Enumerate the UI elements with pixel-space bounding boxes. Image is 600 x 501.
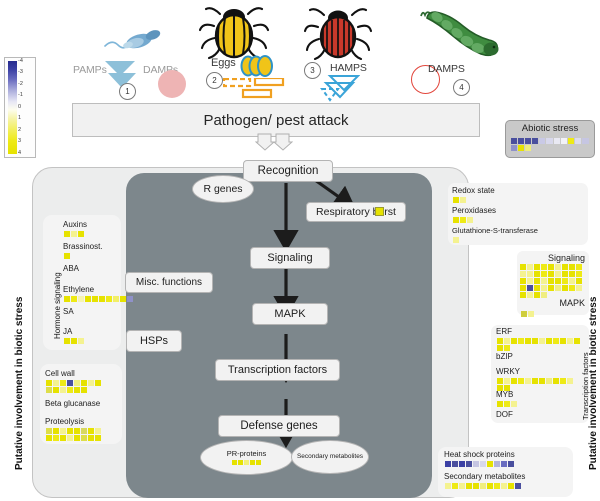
heatmap-cell xyxy=(53,428,59,434)
heatmap-cell xyxy=(508,483,514,489)
hormone-item-aba: ABA xyxy=(63,264,119,274)
heatmap-cell xyxy=(64,338,70,344)
node-hsps-label: HSPs xyxy=(140,335,168,347)
heat-shock-heatmap xyxy=(444,460,515,467)
heat-shock-card: Heat shock proteins Secondary metabolite… xyxy=(438,447,573,497)
heatmap-cell xyxy=(575,138,581,144)
heatmap-cell xyxy=(480,461,486,467)
heatmap-cell xyxy=(539,138,545,144)
item-label: DOF xyxy=(496,410,513,420)
heatmap-cell xyxy=(569,271,575,277)
legend-tick: -3 xyxy=(18,70,35,76)
myb-heatmap xyxy=(496,400,517,407)
banner-label: Pathogen/ pest attack xyxy=(203,112,348,129)
heatmap-cell xyxy=(81,380,87,386)
heatmap-cell xyxy=(527,271,533,277)
heatmap-cell xyxy=(511,338,517,344)
heatmap-cell xyxy=(546,378,552,384)
heatmap-cell xyxy=(452,483,458,489)
heatmap-cell xyxy=(525,338,531,344)
item-beta-glucanase: Beta glucanase xyxy=(45,399,121,409)
heatmap-cell xyxy=(569,264,575,270)
heatmap-cell xyxy=(53,380,59,386)
colour-gradient-bar xyxy=(8,61,17,154)
heatmap-cell xyxy=(541,285,547,291)
heatmap-cell xyxy=(518,145,524,151)
heatmap-cell xyxy=(60,387,66,393)
tf-item-wrky: WRKY xyxy=(496,367,578,391)
heatmap-cell xyxy=(518,338,524,344)
heatmap-cell xyxy=(487,461,493,467)
heatmap-cell xyxy=(85,296,91,302)
heatmap-cell xyxy=(64,296,70,302)
node-misc-functions[interactable]: Misc. functions xyxy=(125,272,213,293)
heatmap-cell xyxy=(250,460,255,465)
heatmap-cell xyxy=(576,278,582,284)
heatmap-cell xyxy=(504,401,510,407)
heatmap-cell xyxy=(527,278,533,284)
heatmap-cell xyxy=(576,285,582,291)
heatmap-cell xyxy=(553,378,559,384)
node-pr-proteins-label: PR-proteins xyxy=(227,449,267,458)
heatmap-cell xyxy=(561,138,567,144)
right-mapk-heatmap xyxy=(520,310,534,317)
heatmap-cell xyxy=(567,378,573,384)
heatmap-cell xyxy=(64,231,70,237)
heatmap-cell xyxy=(466,461,472,467)
heatmap-cell xyxy=(508,461,514,467)
heatmap-cell xyxy=(574,338,580,344)
hormone-item-brassinost: Brassinost. xyxy=(63,242,119,259)
heatmap-cell xyxy=(497,338,503,344)
bacteria-icon xyxy=(103,28,165,54)
heatmap-cell xyxy=(539,338,545,344)
heatmap-cell xyxy=(46,387,52,393)
item-label: Beta glucanase xyxy=(45,399,121,409)
item-label: WRKY xyxy=(496,367,578,377)
legend-tick: 0 xyxy=(18,105,35,111)
heatmap-cell xyxy=(527,285,533,291)
legend-tick: 1 xyxy=(18,116,35,122)
node-defense-genes-label: Defense genes xyxy=(240,420,317,432)
heatmap-cell xyxy=(518,138,524,144)
heatmap-cell xyxy=(60,380,66,386)
heatmap-cell xyxy=(560,378,566,384)
heatmap-cell xyxy=(539,378,545,384)
right-mapk-label: MAPK xyxy=(517,298,589,308)
heatmap-cell xyxy=(67,428,73,434)
red-beetle-icon xyxy=(303,4,373,60)
heatmap-cell xyxy=(527,264,533,270)
gst-heatmap xyxy=(452,236,538,243)
heatmap-cell xyxy=(541,271,547,277)
heatmap-cell xyxy=(569,278,575,284)
hormone-signaling-group-label: Hormone signaling xyxy=(53,272,62,339)
heatmap-cell xyxy=(88,435,94,441)
heatmap-cell xyxy=(95,380,101,386)
heatmap-cell xyxy=(548,285,554,291)
tf-item-bzip: bZIP xyxy=(496,352,513,362)
heatmap-cell xyxy=(518,378,524,384)
heatmap-cell xyxy=(64,253,70,259)
heatmap-cell xyxy=(467,217,473,223)
hormone-item-auxins: Auxins xyxy=(63,220,119,237)
item-label: Heat shock proteins xyxy=(444,450,515,460)
heatmap-cell xyxy=(541,278,547,284)
heatmap-cell xyxy=(74,428,80,434)
heatmap-cell xyxy=(459,483,465,489)
node-mapk[interactable]: MAPK xyxy=(252,303,328,325)
hormone-item-heatmap xyxy=(63,230,119,237)
hormone-item-heatmap xyxy=(63,252,119,259)
legend-tick: -1 xyxy=(18,93,35,99)
item-label: Redox state xyxy=(452,186,495,196)
hormone-item-sa: SA xyxy=(63,307,119,317)
heatmap-cell xyxy=(567,338,573,344)
heatmap-cell xyxy=(497,345,503,351)
heatmap-cell xyxy=(568,138,574,144)
heatmap-cell xyxy=(67,380,73,386)
heatmap-cell xyxy=(562,271,568,277)
heatmap-cell xyxy=(504,338,510,344)
tf-item-myb: MYB xyxy=(496,390,517,407)
item-heat-shock-proteins: Heat shock proteins xyxy=(444,450,515,467)
damps-pink-circle-icon xyxy=(158,70,186,98)
cell-wall-heatmap xyxy=(45,379,105,393)
item-redox-state: Redox state xyxy=(452,186,495,203)
heatmap-cell xyxy=(497,401,503,407)
hormone-item-label: ABA xyxy=(63,264,119,274)
heatmap-cell xyxy=(95,435,101,441)
heatmap-cell xyxy=(532,338,538,344)
heatmap-cell xyxy=(453,197,459,203)
node-signaling-label: Signaling xyxy=(267,252,312,264)
heatmap-cell xyxy=(511,145,517,151)
heatmap-cell xyxy=(60,435,66,441)
wrky-heatmap xyxy=(496,377,578,391)
heatmap-cell xyxy=(521,311,527,317)
heatmap-cell xyxy=(81,428,87,434)
secondary-metabolites-heatmap xyxy=(444,482,525,489)
node-pr-proteins[interactable]: PR-proteins xyxy=(200,440,293,475)
erf-heatmap xyxy=(496,337,582,351)
heatmap-cell xyxy=(453,217,459,223)
heatmap-cell xyxy=(554,138,560,144)
heatmap-cell xyxy=(528,311,534,317)
item-label: Glutathione-S-transferase xyxy=(452,226,538,236)
heatmap-cell xyxy=(555,278,561,284)
legend-tick: 3 xyxy=(18,139,35,145)
heatmap-cell xyxy=(244,460,249,465)
node-secondary-metabolites-label: Secondary metabolites xyxy=(297,453,363,461)
heatmap-cell xyxy=(81,435,87,441)
heatmap-cell xyxy=(71,296,77,302)
heatmap-cell xyxy=(445,461,451,467)
heatmap-cell xyxy=(460,217,466,223)
heatmap-cell xyxy=(480,483,486,489)
heatmap-cell xyxy=(501,461,507,467)
heatmap-cell xyxy=(546,138,552,144)
heatmap-cell xyxy=(494,461,500,467)
item-label: Cell wall xyxy=(45,369,121,379)
damps-label-2: DAMPS xyxy=(428,63,465,75)
item-label: bZIP xyxy=(496,352,513,362)
heatmap-cell xyxy=(511,401,517,407)
heatmap-cell xyxy=(525,378,531,384)
item-label: Secondary metabolites xyxy=(444,472,525,482)
tf-item-dof: DOF xyxy=(496,410,513,420)
heatmap-cell xyxy=(582,138,588,144)
heatmap-cell xyxy=(88,428,94,434)
heatmap-cell xyxy=(562,285,568,291)
elicitor-number-4: 4 xyxy=(453,79,470,96)
heatmap-cell xyxy=(113,296,119,302)
heatmap-cell xyxy=(548,264,554,270)
side-label-left: Putative involvement in biotic stress xyxy=(14,297,25,470)
abiotic-stress-box: Abiotic stress xyxy=(505,120,595,158)
tf-group-label: Transcription factors xyxy=(581,352,590,420)
heatmap-cell xyxy=(238,460,243,465)
heatmap-cell xyxy=(452,461,458,467)
eggs-label: Eggs xyxy=(211,57,236,69)
hormone-item-label: Brassinost. xyxy=(63,242,119,252)
elicitor-number-3: 3 xyxy=(304,62,321,79)
pathogen-pest-attack-banner: Pathogen/ pest attack xyxy=(72,103,480,137)
item-label: Peroxidases xyxy=(452,206,496,216)
heatmap-cell xyxy=(445,483,451,489)
heatmap-cell xyxy=(53,435,59,441)
heatmap-cell xyxy=(95,428,101,434)
right-signaling-label: Signaling xyxy=(517,251,589,263)
hormone-item-label: SA xyxy=(63,307,119,317)
heatmap-cell xyxy=(548,278,554,284)
legend-tick: -4 xyxy=(18,59,35,65)
banner-down-arrow-icon xyxy=(255,133,293,151)
node-respiratory-burst[interactable]: Respiratory burst xyxy=(306,202,406,222)
heatmap-cell xyxy=(504,345,510,351)
heatmap-cell xyxy=(562,278,568,284)
hormone-item-heatmap xyxy=(63,337,119,344)
heatmap-cell xyxy=(555,285,561,291)
heatmap-cell xyxy=(92,296,98,302)
tf-item-erf: ERF xyxy=(496,327,582,351)
hamps-arrow-marker-icon xyxy=(320,74,360,102)
egg-dashed-marker-icon xyxy=(223,78,285,100)
heatmap-cell xyxy=(555,264,561,270)
heatmap-cell xyxy=(459,461,465,467)
item-secondary-metabolites: Secondary metabolites xyxy=(444,472,525,489)
heatmap-cell xyxy=(460,197,466,203)
hormone-signaling-card: Hormone signaling Auxins Brassinost. ABA… xyxy=(43,215,121,350)
heatmap-cell xyxy=(46,428,52,434)
heatmap-cell xyxy=(541,264,547,270)
redox-heatmap xyxy=(452,196,495,203)
right-signaling-card: Signaling MAPK xyxy=(517,251,589,315)
item-label: Proteolysis xyxy=(45,417,121,427)
heatmap-cell xyxy=(497,378,503,384)
heatmap-cell xyxy=(120,296,126,302)
heatmap-cell xyxy=(532,138,538,144)
item-proteolysis: Proteolysis xyxy=(45,417,121,441)
item-peroxidases: Peroxidases xyxy=(452,206,496,223)
item-cell-wall: Cell wall xyxy=(45,369,121,393)
heatmap-cell xyxy=(511,378,517,384)
node-recognition[interactable]: Recognition xyxy=(243,160,333,182)
heatmap-cell xyxy=(487,483,493,489)
peroxidases-heatmap xyxy=(452,216,496,223)
legend-tick: 2 xyxy=(18,128,35,134)
heatmap-cell xyxy=(520,292,526,298)
heatmap-cell xyxy=(504,378,510,384)
abiotic-stress-title: Abiotic stress xyxy=(510,123,590,135)
heatmap-cell xyxy=(88,380,94,386)
hormone-item-label: Auxins xyxy=(63,220,119,230)
heatmap-cell xyxy=(78,296,84,302)
heatmap-cell xyxy=(494,483,500,489)
heatmap-cell xyxy=(256,460,261,465)
node-recognition-label: Recognition xyxy=(258,165,319,177)
hormone-item-ethylene: Ethylene xyxy=(63,285,133,302)
heatmap-cell xyxy=(453,237,459,243)
heatmap-cell xyxy=(532,378,538,384)
heatmap-cell xyxy=(520,271,526,277)
node-r-genes-label: R genes xyxy=(203,183,242,195)
colour-scale-ticks: -4 -3 -2 -1 0 1 2 3 4 xyxy=(17,58,35,157)
heatmap-cell xyxy=(562,264,568,270)
heatmap-cell xyxy=(520,264,526,270)
heatmap-cell xyxy=(576,271,582,277)
hormone-item-label: Ethylene xyxy=(63,285,133,295)
pr-proteins-heatmap xyxy=(231,459,262,465)
hormone-item-label: JA xyxy=(63,327,119,337)
heatmap-cell xyxy=(576,264,582,270)
heatmap-cell xyxy=(534,292,540,298)
transcription-factors-card: Transcription factors ERF bZIP WRKY MYB … xyxy=(491,325,589,423)
heatmap-cell xyxy=(534,278,540,284)
heatmap-cell xyxy=(511,138,517,144)
heatmap-cell xyxy=(520,278,526,284)
abiotic-stress-heatmap xyxy=(510,137,590,151)
heatmap-cell xyxy=(78,231,84,237)
heatmap-cell xyxy=(74,380,80,386)
heatmap-cell xyxy=(569,285,575,291)
heatmap-cell xyxy=(78,338,84,344)
node-transcription-factors[interactable]: Transcription factors xyxy=(215,359,340,381)
heatmap-cell xyxy=(527,292,533,298)
item-label: MYB xyxy=(496,390,517,400)
heatmap-cell xyxy=(546,338,552,344)
heatmap-cell xyxy=(553,338,559,344)
respiratory-burst-marker xyxy=(375,207,384,216)
heatmap-cell xyxy=(473,461,479,467)
heatmap-cell xyxy=(60,428,66,434)
node-misc-functions-label: Misc. functions xyxy=(136,277,202,288)
node-defense-genes[interactable]: Defense genes xyxy=(218,415,340,437)
caterpillar-icon xyxy=(419,6,503,66)
expression-colour-scale-legend: -4 -3 -2 -1 0 1 2 3 4 xyxy=(4,57,36,158)
node-secondary-metabolites[interactable]: Secondary metabolites xyxy=(291,440,369,474)
item-label: ERF xyxy=(496,327,582,337)
heatmap-cell xyxy=(46,435,52,441)
node-signaling[interactable]: Signaling xyxy=(250,247,330,269)
figure-canvas: -4 -3 -2 -1 0 1 2 3 4 xyxy=(0,0,600,501)
heatmap-cell xyxy=(67,387,73,393)
heatmap-cell xyxy=(74,435,80,441)
cell-wall-proteolysis-card: Cell wall Beta glucanase Proteolysis xyxy=(40,364,122,444)
heatmap-cell xyxy=(515,483,521,489)
heatmap-cell xyxy=(67,435,73,441)
heatmap-cell xyxy=(541,292,547,298)
heatmap-cell xyxy=(74,387,80,393)
heatmap-cell xyxy=(534,271,540,277)
hormone-item-heatmap xyxy=(63,295,133,302)
heatmap-cell xyxy=(466,483,472,489)
heatmap-cell xyxy=(99,296,105,302)
node-r-genes[interactable]: R genes xyxy=(192,175,254,203)
node-hsps[interactable]: HSPs xyxy=(126,330,182,352)
redox-card: Redox state Peroxidases Glutathione-S-tr… xyxy=(448,183,588,245)
heatmap-cell xyxy=(232,460,237,465)
heatmap-cell xyxy=(520,285,526,291)
heatmap-cell xyxy=(53,387,59,393)
heatmap-cell xyxy=(534,264,540,270)
legend-tick: -2 xyxy=(18,82,35,88)
heatmap-cell xyxy=(81,387,87,393)
hamps-label: HAMPS xyxy=(330,62,367,74)
heatmap-cell xyxy=(560,338,566,344)
heatmap-cell xyxy=(525,145,531,151)
heatmap-cell xyxy=(71,338,77,344)
right-signaling-grid xyxy=(517,263,585,298)
node-transcription-factors-label: Transcription factors xyxy=(228,364,327,376)
heatmap-cell xyxy=(525,138,531,144)
heatmap-cell xyxy=(106,296,112,302)
proteolysis-heatmap xyxy=(45,427,107,441)
node-mapk-label: MAPK xyxy=(274,308,305,320)
elicitor-number-2: 2 xyxy=(206,72,223,89)
egg-icon xyxy=(240,55,274,77)
heatmap-cell xyxy=(473,483,479,489)
hormone-item-ja: JA xyxy=(63,327,119,344)
heatmap-cell xyxy=(501,483,507,489)
heatmap-cell xyxy=(71,231,77,237)
heatmap-cell xyxy=(555,271,561,277)
item-glutathione-s-transferase: Glutathione-S-transferase xyxy=(452,226,538,243)
heatmap-cell xyxy=(534,285,540,291)
heatmap-cell xyxy=(127,296,133,302)
legend-tick: 4 xyxy=(18,151,35,157)
elicitor-number-1: 1 xyxy=(119,83,136,100)
colorado-potato-beetle-icon xyxy=(198,4,270,60)
heatmap-cell xyxy=(46,380,52,386)
heatmap-cell xyxy=(548,271,554,277)
